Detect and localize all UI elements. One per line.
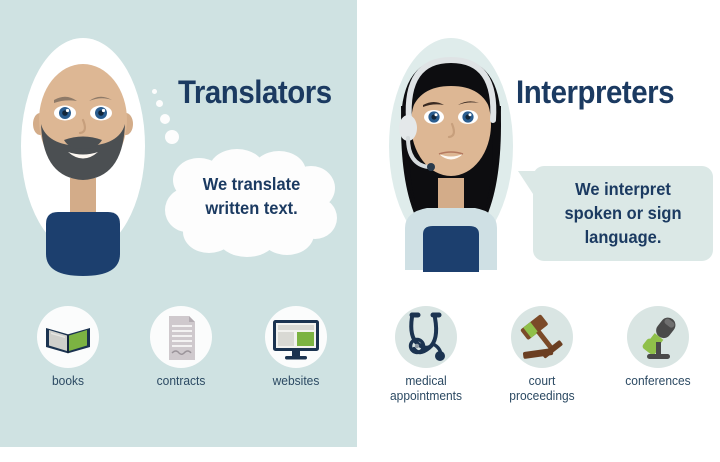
- icon-label-line-1: court: [529, 374, 556, 388]
- speech-bubble-text: We interpret spoken or sign language.: [538, 177, 707, 249]
- headset-woman-avatar: [375, 28, 527, 278]
- gavel-icon: [511, 306, 573, 368]
- speech-bubble-line-3: language.: [585, 227, 662, 247]
- thought-dot-tiny: [152, 89, 157, 94]
- icon-label-books: books: [11, 374, 124, 389]
- icon-item-websites[interactable]: websites: [237, 306, 355, 389]
- icon-label-contracts: contracts: [124, 374, 237, 389]
- books-icon-disc: [37, 306, 99, 368]
- icon-item-court-proceedings[interactable]: court proceedings: [483, 306, 601, 403]
- icon-item-conferences[interactable]: conferences: [599, 306, 717, 389]
- books-icon: [37, 306, 99, 368]
- translators-vs-interpreters-infographic: Translators We translate: [0, 0, 720, 462]
- translators-panel: Translators We translate: [0, 0, 357, 462]
- icon-label-line-2: appointments: [390, 389, 462, 403]
- thought-dot-medium: [160, 114, 170, 124]
- page-title-translators: Translators: [178, 74, 332, 111]
- contracts-icon-disc: [150, 306, 212, 368]
- icon-item-medical-appointments[interactable]: medical appointments: [367, 306, 485, 403]
- interpreters-panel: Interpreters We interpret spoken or sign…: [357, 0, 720, 462]
- speech-bubble-interpreters: We interpret spoken or sign language.: [533, 166, 713, 261]
- contracts-icon: [150, 306, 212, 368]
- microphone-icon-disc: [627, 306, 689, 368]
- stethoscope-icon-disc: [395, 306, 457, 368]
- icon-label-websites: websites: [239, 374, 352, 389]
- speech-bubble-tail: [518, 171, 535, 197]
- bald-bearded-man-avatar: [8, 28, 158, 278]
- speech-bubble-line-1: We interpret: [575, 179, 671, 199]
- thought-bubble-text: We translate written text.: [168, 172, 334, 220]
- microphone-icon: [627, 306, 689, 368]
- icon-label-line-2: proceedings: [509, 389, 574, 403]
- speech-bubble-line-2: spoken or sign: [564, 203, 681, 223]
- websites-icon: [265, 306, 327, 368]
- thought-bubble-translators: We translate written text.: [163, 146, 340, 257]
- icon-label-court-proceedings: court proceedings: [485, 374, 598, 403]
- websites-icon-disc: [265, 306, 327, 368]
- icon-item-books[interactable]: books: [9, 306, 127, 389]
- icon-label-conferences: conferences: [601, 374, 714, 389]
- icon-label-medical-appointments: medical appointments: [369, 374, 482, 403]
- thought-dot-large: [165, 130, 179, 144]
- stethoscope-icon: [395, 306, 457, 368]
- icon-label-line-1: medical: [405, 374, 446, 388]
- thought-dot-small: [156, 100, 163, 107]
- icon-item-contracts[interactable]: contracts: [122, 306, 240, 389]
- gavel-icon-disc: [511, 306, 573, 368]
- page-title-interpreters: Interpreters: [516, 74, 674, 111]
- thought-bubble-line-2: written text.: [205, 198, 297, 218]
- thought-bubble-line-1: We translate: [203, 174, 301, 194]
